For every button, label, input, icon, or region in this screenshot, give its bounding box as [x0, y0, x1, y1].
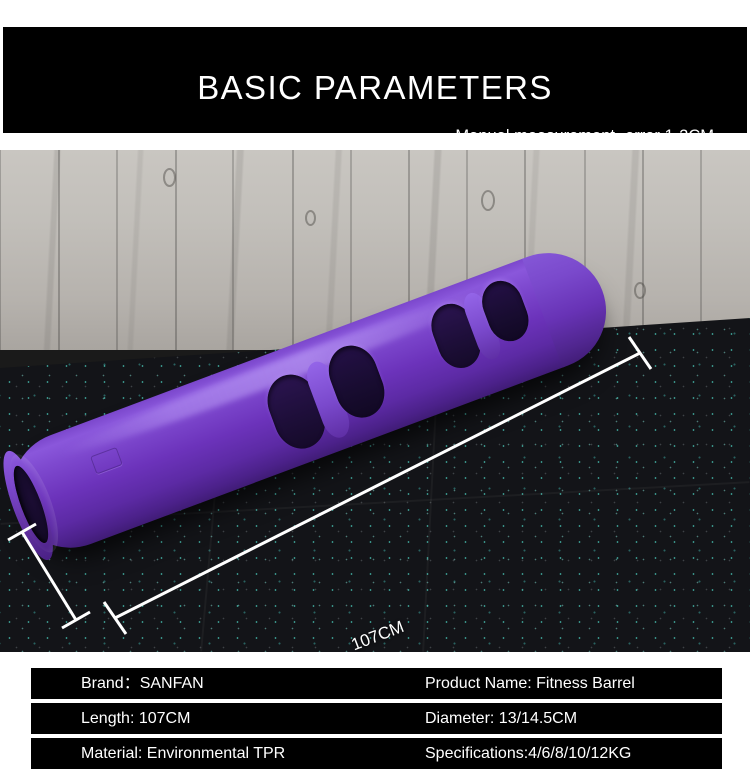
barrel-closed-end	[522, 236, 623, 367]
page-title: BASIC PARAMETERS	[3, 71, 747, 104]
table-row: Material: Environmental TPR Specificatio…	[31, 738, 722, 769]
spec-brand: Brand：SANFAN	[81, 676, 421, 692]
spec-diameter: Diameter: 13/14.5CM	[425, 711, 577, 727]
product-photo: 107CM 13CM	[0, 150, 750, 652]
specification-table: Brand：SANFAN Product Name: Fitness Barre…	[31, 668, 722, 769]
spec-product-name: Product Name: Fitness Barrel	[425, 676, 635, 692]
header-subtitle: Manual measurement -error 1-2CM	[455, 128, 714, 133]
spec-length: Length: 107CM	[81, 711, 421, 727]
header-banner: BASIC PARAMETERS Manual measurement -err…	[3, 27, 747, 133]
spec-material: Material: Environmental TPR	[81, 746, 421, 762]
barrel-group	[0, 150, 750, 652]
table-row: Length: 107CM Diameter: 13/14.5CM	[31, 703, 722, 734]
table-row: Brand：SANFAN Product Name: Fitness Barre…	[31, 668, 722, 699]
fitness-barrel	[0, 239, 617, 565]
brand-emboss-logo	[90, 447, 123, 475]
spec-specifications: Specifications:4/6/8/10/12KG	[425, 746, 631, 762]
